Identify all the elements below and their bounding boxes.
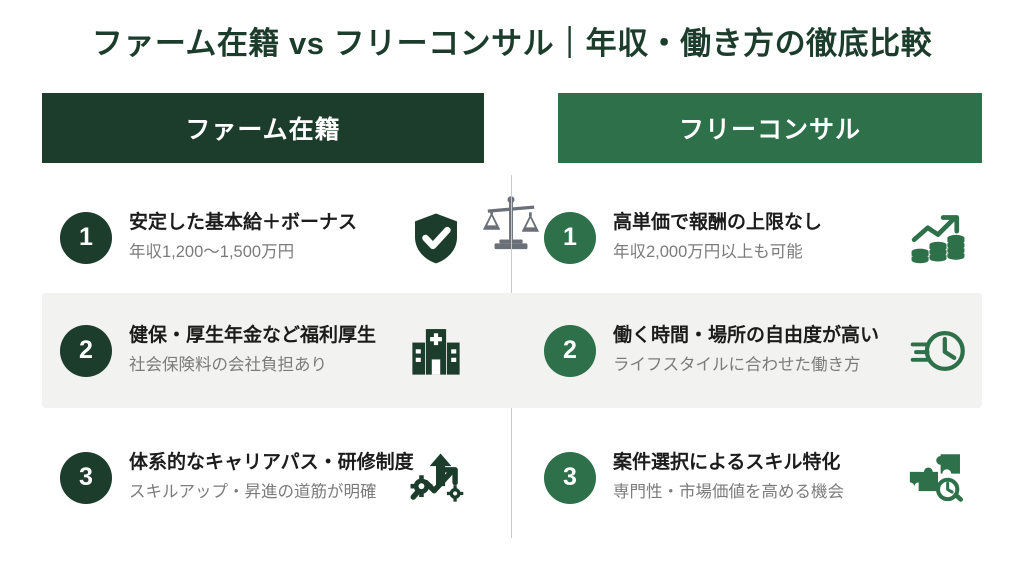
puzzle-magnifier-icon	[906, 446, 970, 510]
item-number-badge: 2	[544, 325, 596, 377]
fast-clock-icon	[906, 319, 970, 383]
row-2-firm-cell: 2 健保・厚生年金など福利厚生 社会保険料の会社負担あり	[42, 293, 512, 408]
table-row: 2 健保・厚生年金など福利厚生 社会保険料の会社負担あり	[42, 293, 982, 408]
item-number-badge: 3	[60, 452, 112, 504]
item-number-badge: 1	[544, 212, 596, 264]
item-number-badge: 2	[60, 325, 112, 377]
table-row: 1 安定した基本給＋ボーナス 年収1,200〜1,500万円 1 高単価で報酬の…	[42, 180, 982, 295]
column-header-freelance-label: フリーコンサル	[679, 110, 861, 146]
item-number-badge: 3	[544, 452, 596, 504]
item-number-badge: 1	[60, 212, 112, 264]
page-title-text: ファーム在籍 vs フリーコンサル｜年収・働き方の徹底比較	[0, 22, 1024, 66]
column-headers: ファーム在籍 フリーコンサル	[0, 93, 1024, 163]
column-header-firm-label: ファーム在籍	[185, 110, 340, 146]
shield-check-icon	[404, 206, 468, 270]
comparison-infographic: ファーム在籍 vs フリーコンサル｜年収・働き方の徹底比較 ファーム在籍 フ	[0, 0, 1024, 572]
row-2-freelance-cell: 2 働く時間・場所の自由度が高い ライフスタイルに合わせた働き方	[512, 293, 982, 408]
table-row: 3 体系的なキャリアパス・研修制度 スキルアップ・昇進の道筋が明確	[42, 420, 982, 535]
hospital-icon	[404, 319, 468, 383]
comparison-rows: 1 安定した基本給＋ボーナス 年収1,200〜1,500万円 1 高単価で報酬の…	[0, 175, 1024, 545]
page-title: ファーム在籍 vs フリーコンサル｜年収・働き方の徹底比較	[0, 22, 1024, 66]
coins-growth-icon	[906, 206, 970, 270]
growth-gear-arrow-icon	[404, 446, 468, 510]
row-1-firm-cell: 1 安定した基本給＋ボーナス 年収1,200〜1,500万円	[42, 180, 512, 295]
column-header-freelance: フリーコンサル	[558, 93, 982, 163]
row-3-freelance-cell: 3 案件選択によるスキル特化 専門性・市場価値を高める機会	[512, 420, 982, 535]
column-header-firm: ファーム在籍	[42, 93, 484, 163]
row-1-freelance-cell: 1 高単価で報酬の上限なし 年収2,000万円以上も可能	[512, 180, 982, 295]
row-3-firm-cell: 3 体系的なキャリアパス・研修制度 スキルアップ・昇進の道筋が明確	[42, 420, 512, 535]
